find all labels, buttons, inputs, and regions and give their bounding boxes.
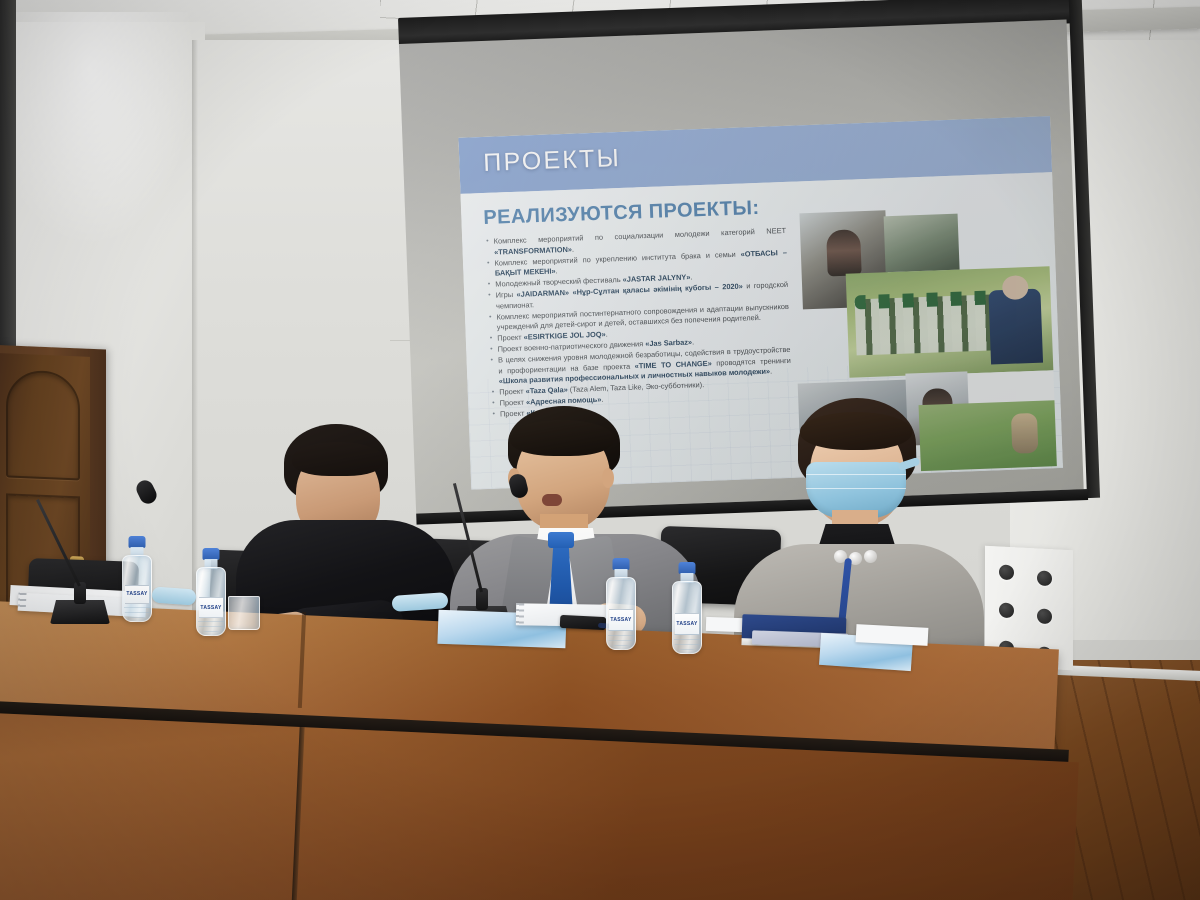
pearl-necklace bbox=[834, 550, 880, 566]
slide-bullet-item: •Игры «JAIDARMAN» «Нұр-Сұлтан қаласы әкі… bbox=[488, 280, 789, 312]
bottle-label: TASSAY bbox=[609, 609, 633, 630]
hair-fringe bbox=[510, 420, 614, 456]
water-bottle[interactable]: TASSAY bbox=[606, 558, 636, 650]
mouth bbox=[542, 494, 562, 506]
notebook-spiral bbox=[18, 593, 27, 611]
tie-knot bbox=[548, 532, 574, 548]
slide-bullet-text: В целях снижения уровня молодежной безра… bbox=[498, 345, 792, 387]
slide-bullet-text: Игры «JAIDARMAN» «Нұр-Сұлтан қаласы әкім… bbox=[496, 280, 789, 312]
slide-bullet-text: Молодежный творческий фестиваль «JASTAR … bbox=[495, 269, 788, 290]
slide-bullet-item: •Проект военно-патриотического движения … bbox=[490, 334, 790, 356]
slide-bullet-item: •Комплекс мероприятий по укреплению инст… bbox=[487, 247, 788, 279]
slide-bullet-text: Комплекс мероприятий по социализации мол… bbox=[494, 226, 787, 258]
slide-bullet-text: Комплекс мероприятий по укреплению инсти… bbox=[494, 247, 787, 279]
bottle-label: TASSAY bbox=[125, 585, 149, 605]
slide-logo-band bbox=[458, 116, 1050, 142]
slide-bullet-item: •Комплекс мероприятий по социализации мо… bbox=[486, 226, 787, 258]
bullet-dot-icon: • bbox=[490, 356, 494, 388]
handout-paper[interactable] bbox=[856, 624, 929, 646]
collage-photo-workshop bbox=[799, 210, 888, 309]
table-panel-split bbox=[291, 727, 305, 900]
bottle-label: TASSAY bbox=[199, 597, 223, 617]
bottle-ribs bbox=[674, 634, 700, 650]
bullet-dot-icon: • bbox=[488, 280, 491, 291]
conference-room-scene: ⚭ Nur-Sultan THE HEART OF EURASIA ПРОЕКТ… bbox=[0, 0, 1200, 900]
water-bottle[interactable]: TASSAY bbox=[196, 548, 226, 636]
slide-subtitle: РЕАЛИЗУЮТСЯ ПРОЕКТЫ: bbox=[483, 197, 760, 230]
bullet-dot-icon: • bbox=[492, 388, 495, 399]
slide-bullet-text: Комплекс мероприятий постинтернатного со… bbox=[496, 301, 789, 333]
slide-bullet-item: •Проект «Taza Qala» (Taza Alem, Taza Lik… bbox=[492, 377, 792, 399]
face-mask-on-table[interactable] bbox=[151, 586, 196, 605]
bottle-ribs bbox=[608, 630, 634, 646]
collage-photo-volunteers-official bbox=[846, 266, 1054, 377]
gooseneck-microphone[interactable] bbox=[50, 560, 110, 624]
bullet-dot-icon: • bbox=[490, 334, 493, 345]
collage-photo-youth-group bbox=[884, 214, 960, 273]
slide-bullet-item: •Молодежный творческий фестиваль «JASTAR… bbox=[488, 269, 788, 291]
slide-bullet-item: •Проект «ESIRTKIGE JOL JOQ». bbox=[490, 323, 790, 345]
slide-bullet-text: Проект «Taza Qala» (Taza Alem, Taza Like… bbox=[499, 377, 792, 398]
bottle-body: TASSAY bbox=[122, 555, 152, 622]
hair-fringe bbox=[292, 442, 384, 476]
bottle-body: TASSAY bbox=[196, 567, 226, 636]
ear-right bbox=[602, 468, 614, 488]
bullet-dot-icon: • bbox=[488, 291, 491, 312]
drinking-glass[interactable] bbox=[228, 596, 260, 630]
bottle-label: TASSAY bbox=[675, 613, 699, 634]
slide-bullet-item: •В целях снижения уровня молодежной безр… bbox=[490, 345, 791, 388]
notebook-spiral bbox=[516, 603, 524, 625]
hair-fringe bbox=[800, 412, 912, 450]
bottle-ribs bbox=[124, 604, 150, 618]
bullet-dot-icon: • bbox=[486, 237, 489, 258]
bullet-dot-icon: • bbox=[490, 345, 493, 356]
bottle-ribs bbox=[198, 617, 224, 632]
bottle-body: TASSAY bbox=[606, 577, 636, 650]
slide-title: ПРОЕКТЫ bbox=[483, 144, 622, 178]
slide-title-band bbox=[458, 116, 1052, 194]
water-bottle[interactable]: TASSAY bbox=[122, 536, 152, 622]
slide-bullet-list: •Комплекс мероприятий по социализации мо… bbox=[486, 226, 793, 421]
slide-bullet-text: Проект «ESIRTKIGE JOL JOQ». bbox=[497, 323, 790, 344]
bullet-dot-icon: • bbox=[487, 258, 490, 279]
bullet-dot-icon: • bbox=[489, 312, 492, 333]
slide-bullet-item: •Комплекс мероприятий постинтернатного с… bbox=[489, 301, 790, 333]
slide-bullet-text: Проект военно-патриотического движения «… bbox=[497, 334, 790, 355]
door-panel-upper bbox=[6, 369, 80, 480]
water-bottle[interactable]: TASSAY bbox=[672, 562, 702, 654]
bottle-body: TASSAY bbox=[672, 581, 702, 654]
